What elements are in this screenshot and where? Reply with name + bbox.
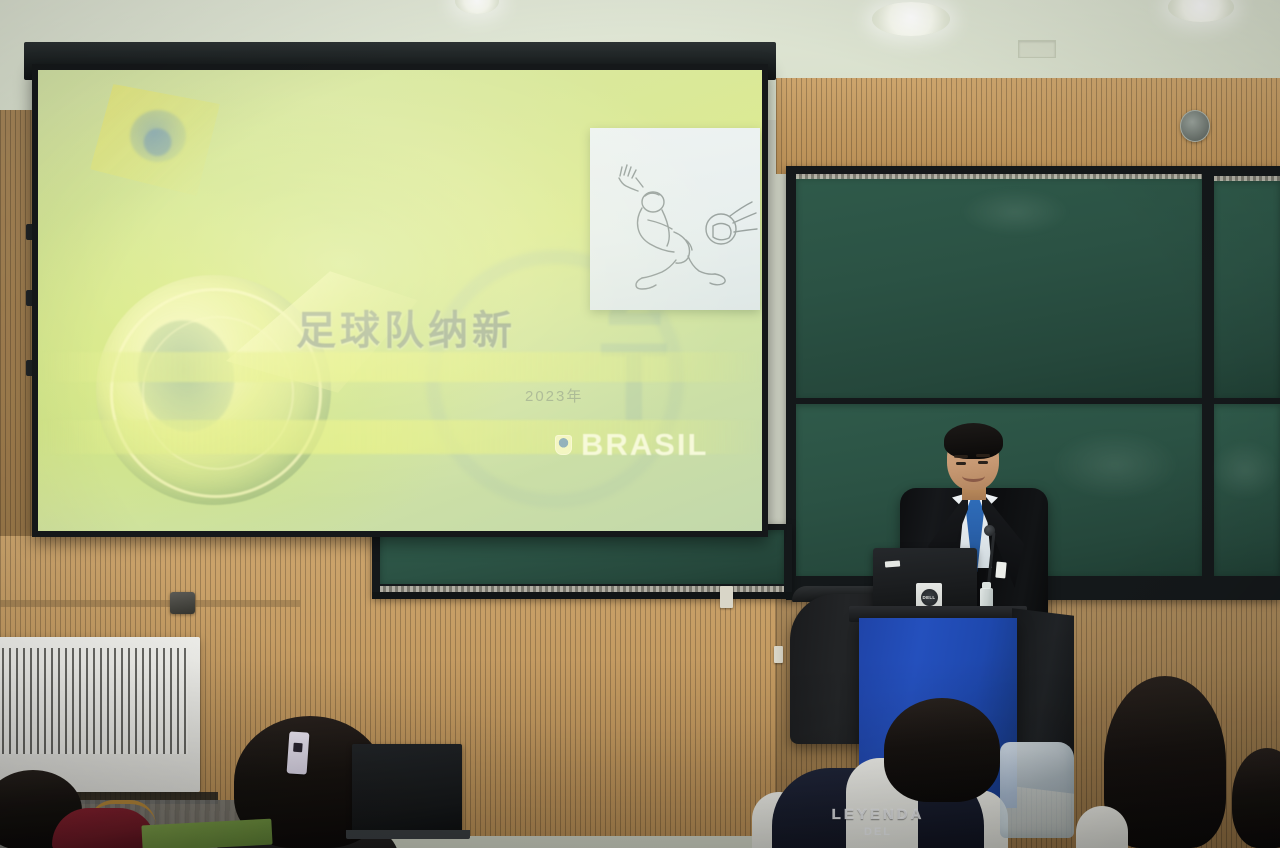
eraser <box>774 646 783 663</box>
screen-surface: 2 T 足球队纳新 2023年 BRASIL <box>38 70 762 531</box>
monitor-sticker <box>885 560 900 567</box>
presenter-hair <box>944 423 1003 459</box>
slide-canvas: 2 T 足球队纳新 2023年 BRASIL <box>38 70 762 531</box>
vest-text: LEYENDA <box>772 806 984 823</box>
ledge-shadow <box>0 600 300 607</box>
red-bag <box>52 808 156 848</box>
screen-bezel: 2 T 足球队纳新 2023年 BRASIL <box>32 64 768 537</box>
plastic-bag <box>1000 742 1074 838</box>
ceiling-vent-icon <box>1018 40 1056 58</box>
chalk-ledge <box>1214 176 1280 181</box>
projector-glow <box>38 70 762 531</box>
cup-on-ledge <box>170 592 195 614</box>
dell-logo-icon: DELL <box>921 589 938 606</box>
laptop-base <box>346 830 470 839</box>
presenter-smile <box>962 470 985 482</box>
presenter-badge <box>995 562 1006 579</box>
audience-head <box>884 698 1000 802</box>
chalk-ledge <box>796 174 1202 179</box>
blackboard-panel <box>380 530 784 584</box>
presenter-brow <box>976 454 990 457</box>
vest-subtext: DEL <box>772 826 984 838</box>
lecture-hall-photo: 2 T 足球队纳新 2023年 BRASIL <box>0 0 1280 848</box>
laptop <box>352 744 462 832</box>
presenter-eye <box>956 462 966 465</box>
wall-speaker-icon <box>1180 110 1210 142</box>
presenter-eye <box>978 461 988 464</box>
hair-clip <box>287 731 310 774</box>
blackboard-panel <box>1214 180 1280 398</box>
blackboard-panel <box>1214 404 1280 576</box>
microphone-icon <box>984 525 995 536</box>
radiator-grille <box>0 648 188 754</box>
blackboard-panel <box>796 176 1202 398</box>
presenter-brow <box>954 455 968 458</box>
eraser <box>720 586 733 608</box>
ceiling-light <box>872 2 950 36</box>
projection-screen: 2 T 足球队纳新 2023年 BRASIL <box>24 42 776 537</box>
